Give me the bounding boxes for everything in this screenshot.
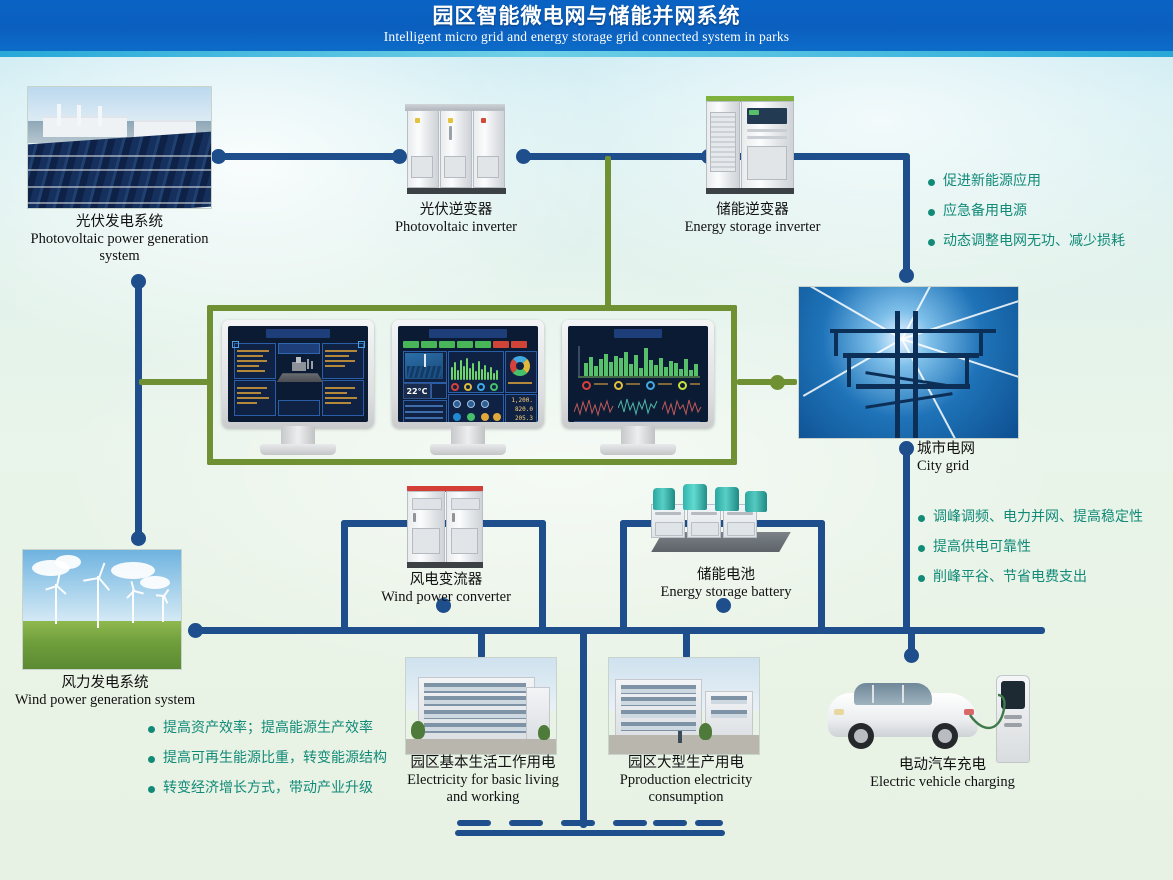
wire-ground-bus [455,830,725,836]
node-dot-pv-branch [131,274,146,289]
ground-tick-2 [509,820,543,826]
node-dot-ev-drop [904,648,919,663]
bullet-item: 提高供电可靠性 [918,538,1168,557]
bullet-item: 促进新能源应用 [928,172,1168,191]
bullet-item: 调峰调频、电力并网、提高稳定性 [918,508,1168,527]
wire-grid-vertical [903,156,910,281]
bullet-item: 动态调整电网无功、减少损耗 [928,232,1168,251]
label-battery: 储能电池 Energy storage battery [626,567,826,601]
ground-tick-6 [695,820,723,826]
label-basic-load: 园区基本生活工作用电 Electricity for basic living … [398,755,568,806]
bullet-item: 提高可再生能源比重，转变能源结构 [148,749,398,768]
wire-green-top [207,305,737,311]
photo-production-building [608,657,760,755]
screen2-metric-3: 205.3 [505,415,533,422]
wire-green-left-stub [139,379,209,385]
bullet-dot-icon [928,209,935,216]
monitor-energy-dashboard: 22°C [392,320,544,456]
node-dot-pv-out [211,149,226,164]
bullet-dot-icon [148,726,155,733]
wire-green-feed-down [605,156,611,308]
device-wind-power-converter [407,486,485,568]
page-header: 园区智能微电网与储能并网系统 Intelligent micro grid an… [0,0,1173,51]
node-dot-wind-bus [188,623,203,638]
bullet-dot-icon [918,575,925,582]
ground-tick-3 [561,820,595,826]
monitor-plant-overview [222,320,374,456]
screen2-temperature: 22°C [403,383,431,399]
device-energy-storage-battery [645,478,795,566]
wire-green-bottom [207,459,737,465]
monitor-analytics [562,320,714,456]
wire-green-right [731,305,737,465]
bullets-top-right: 促进新能源应用 应急备用电源 动态调整电网无功、减少损耗 [928,172,1168,262]
bullet-item: 转变经济增长方式，带动产业升级 [148,779,398,798]
charging-cable-icon [968,693,1014,735]
sparkline-2 [618,396,658,418]
ground-tick-5 [653,820,687,826]
node-dot-grid-label [899,441,914,456]
wire-pv-left-vertical [135,280,142,538]
bullet-dot-icon [148,756,155,763]
photo-city-grid-pylon [798,286,1019,439]
wire-pv-to-pvinverter [215,153,400,160]
wire-green-left [207,305,213,465]
label-pv: 光伏发电系统 Photovoltaic power generation sys… [17,214,222,265]
bullet-dot-icon [148,786,155,793]
screen2-metric-1: 1,200. [505,397,533,404]
screen2-metric-2: 820.0 [505,406,533,413]
label-city-grid: 城市电网 City grid [917,441,1037,475]
bullet-dot-icon [918,545,925,552]
device-energy-storage-inverter [706,96,796,194]
label-storage-inverter: 储能逆变器 Energy storage inverter [655,202,850,236]
sparkline-3 [662,396,702,418]
photo-photovoltaic-farm [27,86,212,209]
page-title-cn: 园区智能微电网与储能并网系统 [0,0,1173,29]
device-photovoltaic-inverter [403,104,510,194]
bullet-item: 应急备用电源 [928,202,1168,221]
wire-drop-productionload [683,631,690,659]
wire-pvinverter-to-storageinverter [520,153,710,160]
ground-tick-4 [613,820,647,826]
wire-green-to-grid [737,379,797,385]
photo-office-building-basic [405,657,557,755]
header-accent-strip [0,51,1173,57]
screen-3 [568,326,708,422]
screen-2: 22°C [398,326,538,422]
label-production-load: 园区大型生产用电 Pproduction electricity consump… [596,755,776,806]
bullet-item: 削峰平谷、节省电费支出 [918,568,1168,587]
photo-wind-farm [22,549,182,670]
bullets-bottom-left: 提高资产效率；提高能源生产效率 提高可再生能源比重，转变能源结构 转变经济增长方… [148,719,398,809]
ground-tick-1 [457,820,491,826]
bullet-dot-icon [928,239,935,246]
page-title-en: Intelligent micro grid and energy storag… [0,29,1173,45]
bullets-mid-right: 调峰调频、电力并网、提高稳定性 提高供电可靠性 削峰平谷、节省电费支出 [918,508,1168,598]
node-dot-wind-branch [131,531,146,546]
bullet-item: 提高资产效率；提高能源生产效率 [148,719,398,738]
wire-main-bus [190,627,1045,634]
bullet-dot-icon [918,515,925,522]
bullet-dot-icon [928,179,935,186]
label-ev: 电动汽车充电 Electric vehicle charging [845,757,1040,791]
wire-ground-vertical [580,627,587,828]
wire-drop-basicload [478,631,485,659]
sparkline-1 [574,396,614,418]
node-dot-pvinverter-out [516,149,531,164]
label-wind: 风力发电系统 Wind power generation system [10,675,200,709]
device-ev-charging [828,665,1043,765]
diagram-canvas: 园区智能微电网与储能并网系统 Intelligent micro grid an… [0,0,1173,880]
wire-grid-down-to-bus [903,445,910,631]
screen-1 [228,326,368,422]
node-dot-green-grid [770,375,785,390]
label-pv-inverter: 光伏逆变器 Photovoltaic inverter [356,202,556,236]
label-wind-converter: 风电变流器 Wind power converter [346,572,546,606]
node-dot-grid-in [899,268,914,283]
